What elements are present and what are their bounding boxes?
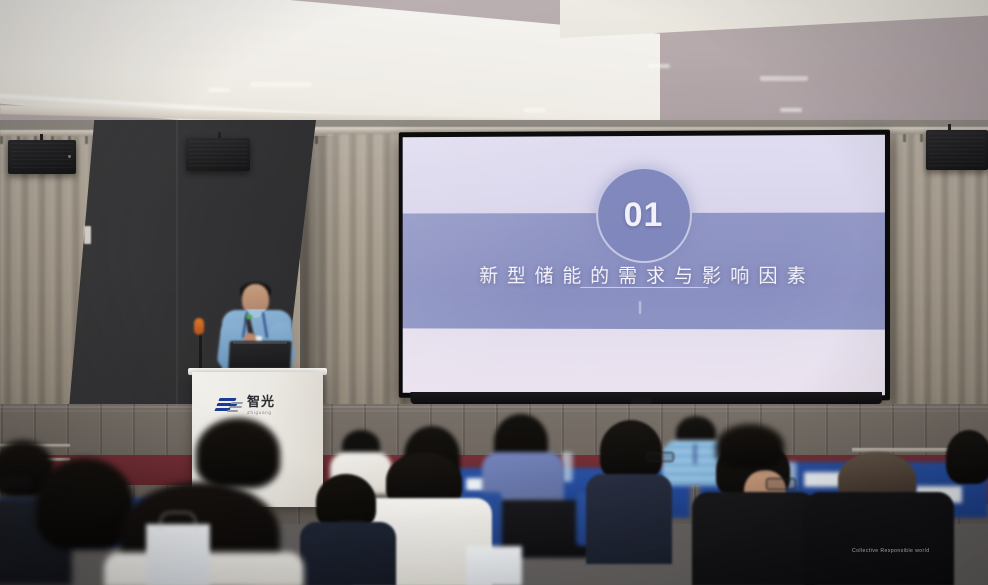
projection-screen: 01 新型储能的需求与影响因素 — [399, 130, 890, 401]
conference-photo-scene: 01 新型储能的需求与影响因素 — [0, 0, 988, 585]
ceiling-downlight-icon — [780, 108, 802, 112]
slide-title: 新型储能的需求与影响因素 — [403, 261, 885, 288]
slide-band-bottom — [403, 329, 885, 395]
attendee-hair — [716, 424, 784, 468]
wall-trim-line — [0, 410, 988, 412]
eyeglasses-icon — [0, 478, 30, 488]
tshirt-print-text: Collective Responsible world — [852, 548, 930, 554]
eyeglasses-icon — [646, 452, 674, 462]
loudspeaker-icon — [926, 130, 988, 170]
eyeglasses-icon — [766, 478, 796, 490]
microphone-icon — [194, 318, 204, 335]
slide-section-badge: 01 — [596, 167, 692, 263]
ceiling-downlight-icon — [208, 88, 230, 92]
speaker-led-icon — [68, 155, 71, 158]
laptop-lid-highlight — [233, 342, 287, 344]
shopping-bag-icon — [466, 546, 522, 585]
slide-title-underline — [580, 287, 708, 288]
podium-logo-cn: 智光 — [247, 396, 275, 409]
ceiling-vent-icon — [760, 76, 808, 81]
podium-logo: 智光 Zhiguang — [215, 396, 275, 416]
attendee-torso — [586, 474, 672, 564]
loudspeaker-icon — [186, 138, 250, 171]
ceiling-downlight-icon — [648, 64, 670, 68]
wall-trim-line — [0, 406, 988, 408]
attendee-hair — [946, 430, 988, 484]
backdrop-wall-tag — [84, 226, 91, 244]
ceiling-vent-icon — [250, 82, 312, 87]
speaker-grille — [929, 133, 985, 167]
attendee-torso — [804, 492, 954, 585]
projection-screen-surface: 01 新型储能的需求与影响因素 — [403, 135, 885, 396]
speaker-grille — [189, 141, 247, 168]
zhiguang-logo-icon — [215, 397, 243, 414]
attendee-hair — [600, 420, 662, 482]
speaker-grille — [11, 143, 73, 171]
podium-logo-en: Zhiguang — [247, 411, 275, 416]
attendee-lanyard — [694, 444, 696, 464]
slide-cursor-artifact — [639, 301, 640, 314]
shopping-bag-handle — [160, 512, 196, 529]
loudspeaker-icon — [8, 140, 76, 174]
ceiling-downlight-icon — [524, 108, 546, 112]
attendee-torso — [300, 522, 396, 585]
attendee-torso — [692, 492, 816, 585]
laptop-icon — [228, 341, 291, 369]
slide-section-number: 01 — [624, 196, 664, 235]
shopping-bag-icon — [146, 524, 210, 585]
attendee-hair — [196, 418, 280, 488]
